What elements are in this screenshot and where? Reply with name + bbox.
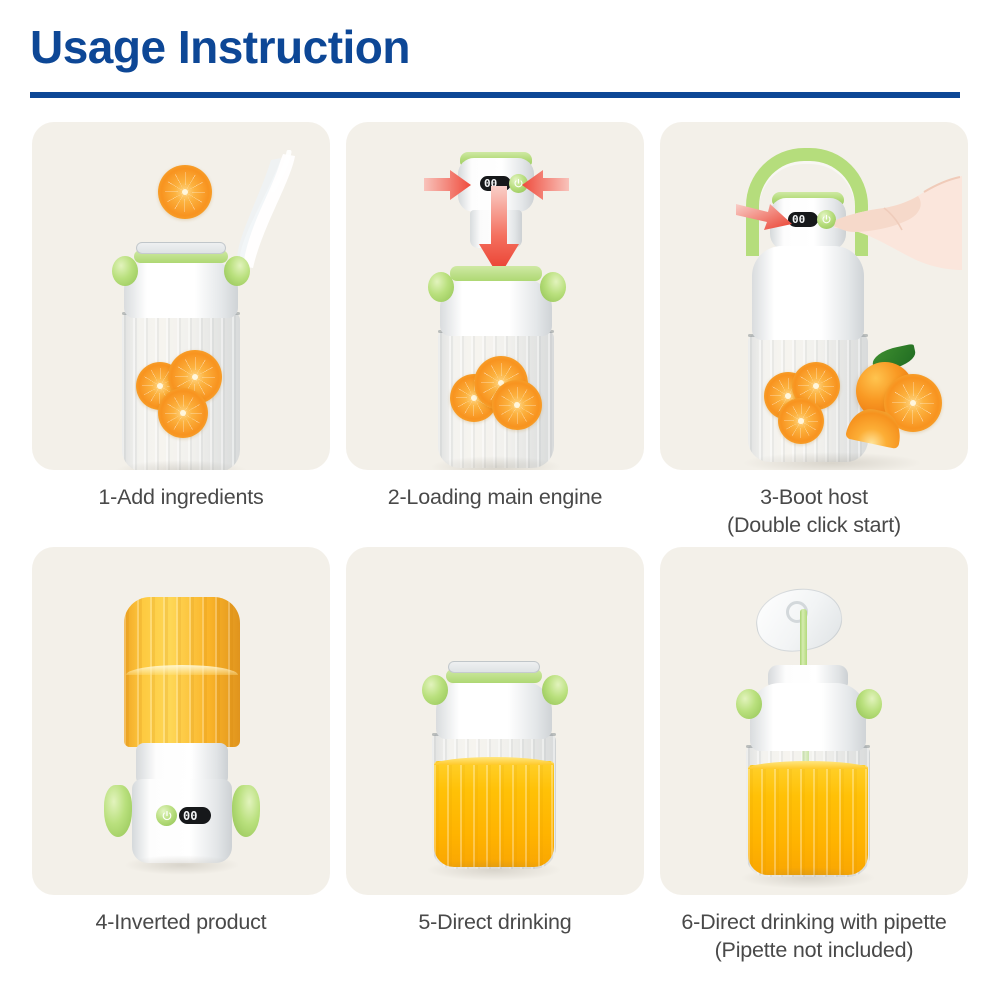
orange-slice-inside-3 <box>492 380 542 430</box>
green-knob-left <box>428 272 454 302</box>
green-knob-left <box>104 785 132 837</box>
infographic-page: Usage Instruction <box>0 0 1000 1000</box>
clear-lid-disc <box>448 661 540 673</box>
lid-green-seal <box>450 266 542 281</box>
step-caption-1: 1-Add ingredients <box>98 484 263 512</box>
green-knob-right <box>856 689 882 719</box>
green-knob-right <box>542 675 568 705</box>
juice-rib-highlights <box>748 765 868 875</box>
white-shoulder <box>752 246 864 340</box>
juice-fill <box>434 761 554 867</box>
arrow-down-icon <box>478 186 520 278</box>
juice-fill <box>748 765 868 875</box>
step-image-2: 00 <box>346 122 644 470</box>
step-caption-2-line1: 2-Loading main engine <box>388 485 603 509</box>
step-image-1 <box>32 122 330 470</box>
green-knob-left <box>112 256 138 286</box>
step-card-2: 00 <box>346 122 644 539</box>
white-shoulder <box>436 681 552 739</box>
power-symbol-icon <box>161 810 173 822</box>
step-card-1: 1-Add ingredients <box>32 122 330 539</box>
product-shadow <box>740 867 876 889</box>
led-display-panel: 00 <box>179 807 211 824</box>
product-shadow <box>426 859 562 881</box>
step-image-4: 00 <box>32 547 330 895</box>
step-caption-4-line1: 4-Inverted product <box>96 910 267 934</box>
step-card-3: 00 <box>660 122 968 539</box>
step-caption-6-line2: (Pipette not included) <box>681 937 946 965</box>
step-caption-3: 3-Boot host (Double click start) <box>727 484 901 539</box>
step-card-6: 6-Direct drinking with pipette (Pipette … <box>660 547 968 964</box>
step-caption-5-line1: 5-Direct drinking <box>418 910 571 934</box>
step-image-6 <box>660 547 968 895</box>
product-shadow <box>742 452 922 470</box>
step-caption-6: 6-Direct drinking with pipette (Pipette … <box>681 909 946 964</box>
white-shoulder <box>750 683 866 751</box>
orange-slice-inside-3 <box>778 398 824 444</box>
green-knob-right <box>224 256 250 286</box>
step-caption-6-line1: 6-Direct drinking with pipette <box>681 910 946 934</box>
green-knob-left <box>422 675 448 705</box>
step-image-5 <box>346 547 644 895</box>
step-caption-3-line1: 3-Boot host <box>760 485 868 509</box>
page-title: Usage Instruction <box>30 24 970 70</box>
juice-rib-highlights <box>434 761 554 867</box>
power-button[interactable] <box>156 805 177 826</box>
step-caption-1-line1: 1-Add ingredients <box>98 485 263 509</box>
step-caption-5: 5-Direct drinking <box>418 909 571 937</box>
step-card-4: 00 4-Inverted product <box>32 547 330 964</box>
arrow-left-icon <box>424 170 472 204</box>
steps-grid: 1-Add ingredients 00 <box>32 122 972 964</box>
green-knob-right <box>232 785 260 837</box>
arrow-to-button-icon <box>736 200 794 234</box>
clear-lid-disc <box>136 242 226 254</box>
orange-slice-inside-3 <box>158 388 208 438</box>
product-shadow <box>124 855 240 875</box>
green-knob-left <box>736 689 762 719</box>
led-display-value: 00 <box>183 810 197 822</box>
green-knob-right <box>540 272 566 302</box>
step-card-5: 5-Direct drinking <box>346 547 644 964</box>
white-shoulder <box>124 260 238 318</box>
arrow-right-icon <box>522 170 570 204</box>
step-caption-3-line2: (Double click start) <box>727 512 901 540</box>
title-underline-rule <box>30 92 960 98</box>
step-caption-2: 2-Loading main engine <box>388 484 603 512</box>
white-shoulder <box>440 278 552 336</box>
page-header: Usage Instruction <box>30 24 970 70</box>
step-caption-4: 4-Inverted product <box>96 909 267 937</box>
step-image-3: 00 <box>660 122 968 470</box>
